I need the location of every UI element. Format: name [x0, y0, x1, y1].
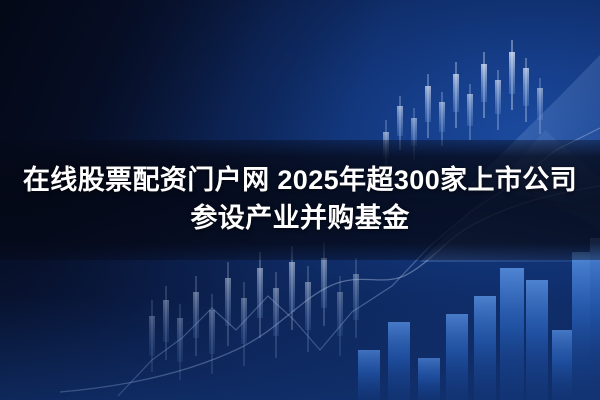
- news-banner: 在线股票配资门户网 2025年超300家上市公司 参设产业并购基金: [0, 0, 600, 400]
- headline-line-1: 在线股票配资门户网 2025年超300家上市公司: [23, 165, 577, 197]
- headline: 在线股票配资门户网 2025年超300家上市公司 参设产业并购基金: [0, 140, 600, 260]
- headline-line-2: 参设产业并购基金: [190, 203, 409, 235]
